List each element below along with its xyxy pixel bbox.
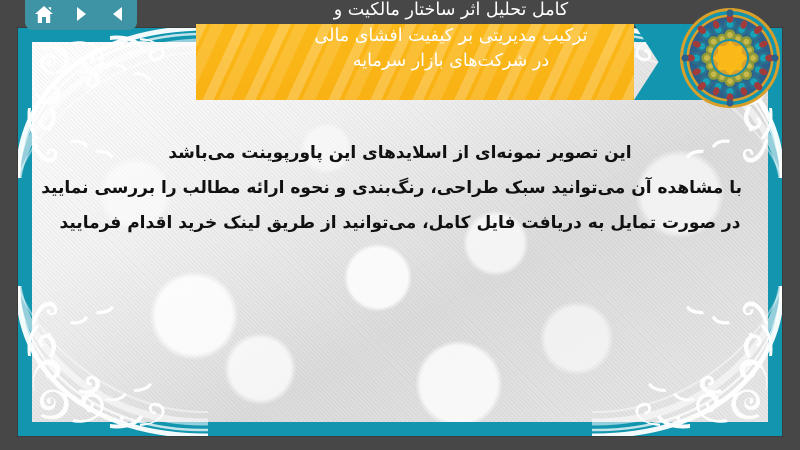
title-ribbon [196, 24, 706, 100]
slide-viewer: این تصویر نمونه‌ای از اسلایدهای این پاور… [0, 0, 800, 450]
next-slide-button[interactable] [68, 2, 94, 26]
ribbon-tail [634, 24, 706, 100]
triangle-right-icon [72, 5, 90, 23]
body-line-1: این تصویر نمونه‌ای از اسلایدهای این پاور… [58, 136, 742, 171]
previous-slide-button[interactable] [105, 2, 131, 26]
body-line-2: با مشاهده آن می‌توانید سبک طراحی، رنگ‌بن… [58, 171, 742, 206]
triangle-left-icon [109, 5, 127, 23]
title-line-1: کامل تحلیل اثر ساختار مالکیت و [196, 0, 706, 24]
home-icon [34, 5, 54, 24]
body-line-3: در صورت تمایل به دریافت فایل کامل، می‌تو… [58, 206, 742, 241]
home-button[interactable] [31, 2, 57, 26]
slide-body-text: این تصویر نمونه‌ای از اسلایدهای این پاور… [58, 136, 742, 241]
viewer-nav-bar [25, 0, 137, 30]
ribbon-body [196, 24, 634, 100]
